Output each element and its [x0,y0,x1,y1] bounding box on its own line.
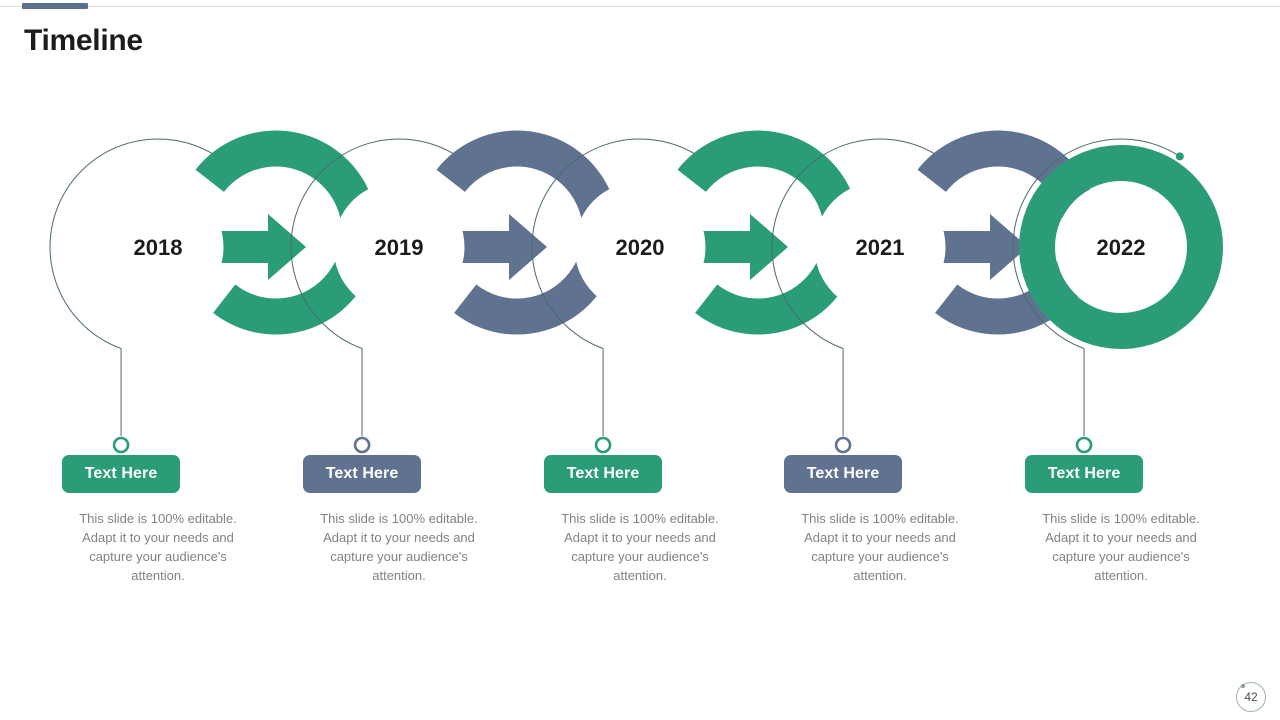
node-year-label: 2019 [375,235,424,260]
node-description-2021: This slide is 100% editable. Adapt it to… [796,509,964,585]
node-connector-line [1084,348,1121,436]
node-description-2022: This slide is 100% editable. Adapt it to… [1037,509,1205,585]
node-connector-line [362,348,399,436]
node-label-text: Text Here [326,465,399,483]
node-year-label: 2021 [856,235,905,260]
node-year-label: 2022 [1097,235,1146,260]
node-description-2018: This slide is 100% editable. Adapt it to… [74,509,242,585]
node-label-text: Text Here [567,465,640,483]
node-connector-line [843,348,880,436]
node-arrow-icon [938,214,1028,280]
node-description-2020: This slide is 100% editable. Adapt it to… [556,509,724,585]
node-year-label: 2018 [134,235,183,260]
timeline-graphic: 20182019202020212022 [0,0,1280,720]
node-description-2019: This slide is 100% editable. Adapt it to… [315,509,483,585]
node-connector-ring [836,438,850,452]
node-connector-ring [355,438,369,452]
node-arrow-icon [457,214,547,280]
timeline-node-2022[interactable]: 2022 [1013,139,1205,452]
node-connector-ring [1077,438,1091,452]
page-number-text: 42 [1236,682,1266,712]
node-arrow-icon [216,214,306,280]
node-label-pill-2022[interactable]: Text Here [1025,455,1143,493]
page-number-badge: 42 [1236,682,1266,712]
node-label-text: Text Here [807,465,880,483]
node-year-label: 2020 [616,235,665,260]
node-connector-ring [596,438,610,452]
node-connector-ring [114,438,128,452]
node-label-text: Text Here [85,465,158,483]
node-label-pill-2020[interactable]: Text Here [544,455,662,493]
node-label-pill-2019[interactable]: Text Here [303,455,421,493]
node-label-pill-2021[interactable]: Text Here [784,455,902,493]
node-connector-line [121,348,158,436]
slide-canvas: Timeline 20182019202020212022 Text HereT… [0,0,1280,720]
node-label-text: Text Here [1048,465,1121,483]
node-label-pill-2018[interactable]: Text Here [62,455,180,493]
timeline-node-2018[interactable]: 2018 [50,139,360,452]
node-arc-dot [1176,152,1184,160]
node-connector-line [603,348,640,436]
